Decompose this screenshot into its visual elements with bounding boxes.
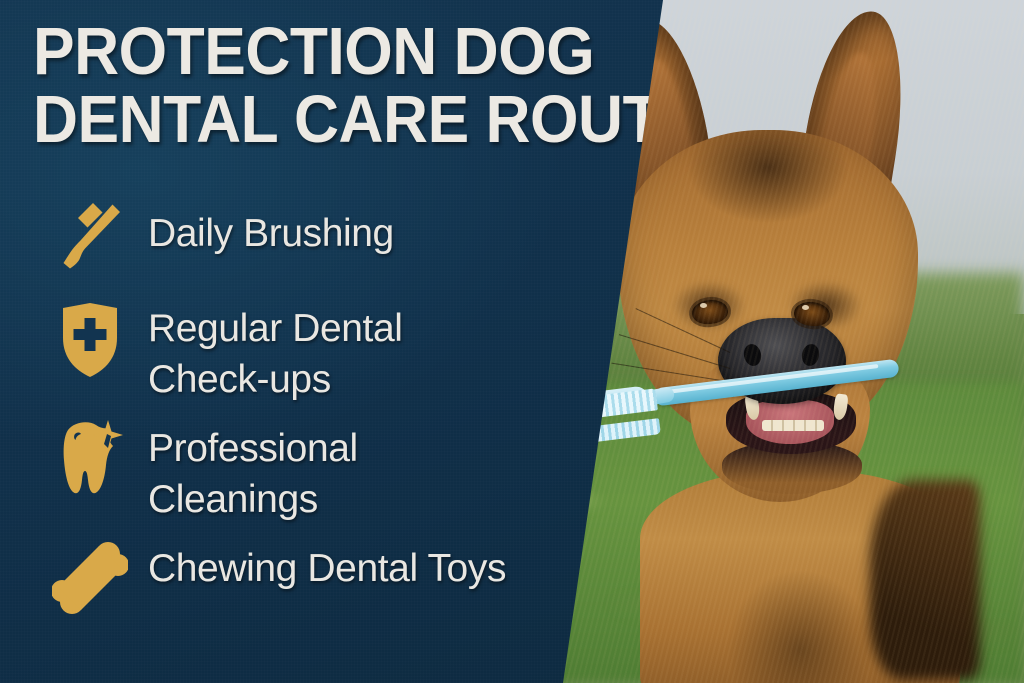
bone-icon (52, 537, 128, 619)
toothbrush-icon (52, 196, 128, 278)
page-title-line-1: Protection Dog (33, 18, 610, 86)
list-item: Regular Dental Check-ups (52, 300, 572, 405)
list-item-label: Daily Brushing (148, 196, 394, 259)
list-item-label: Regular Dental Check-ups (148, 300, 508, 405)
infographic-canvas: Protection Dog Dental Care Routine Daily… (0, 0, 1024, 683)
dog-chest-shadow (870, 480, 980, 680)
dog-eye-glint-right (802, 305, 809, 310)
page-title-line-2: Dental Care Routine (33, 86, 610, 154)
shield-cross-icon (52, 300, 128, 382)
feature-list: Daily Brushing Regular Dental Check-ups (52, 196, 572, 637)
list-item-label: Professional Cleanings (148, 417, 508, 525)
page-title: Protection Dog Dental Care Routine (33, 18, 610, 154)
sparkling-tooth-icon (52, 417, 128, 499)
list-item: Professional Cleanings (52, 417, 572, 525)
list-item: Daily Brushing (52, 196, 572, 278)
list-item-label: Chewing Dental Toys (148, 537, 506, 594)
dog-eye-glint-left (700, 303, 707, 308)
list-item: Chewing Dental Toys (52, 537, 572, 619)
dog-teeth (762, 420, 824, 431)
